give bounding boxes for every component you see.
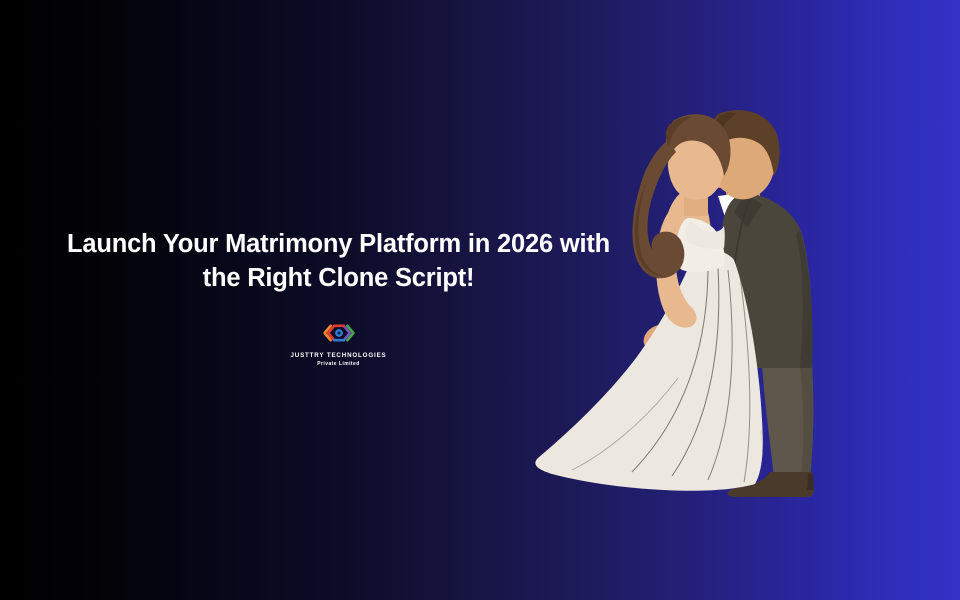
page-title: Launch Your Matrimony Platform in 2026 w… (46, 228, 631, 295)
brand-logo: JUSTTRY TECHNOLOGIES Private Limited (46, 321, 631, 367)
justtry-hexagon-code-icon (321, 321, 357, 350)
matrimony-promo-banner: Launch Your Matrimony Platform in 2026 w… (0, 0, 960, 600)
logo-company-suffix: Private Limited (317, 361, 360, 367)
text-content-block: Launch Your Matrimony Platform in 2026 w… (46, 228, 631, 367)
logo-company-name: JUSTTRY TECHNOLOGIES (290, 352, 386, 359)
